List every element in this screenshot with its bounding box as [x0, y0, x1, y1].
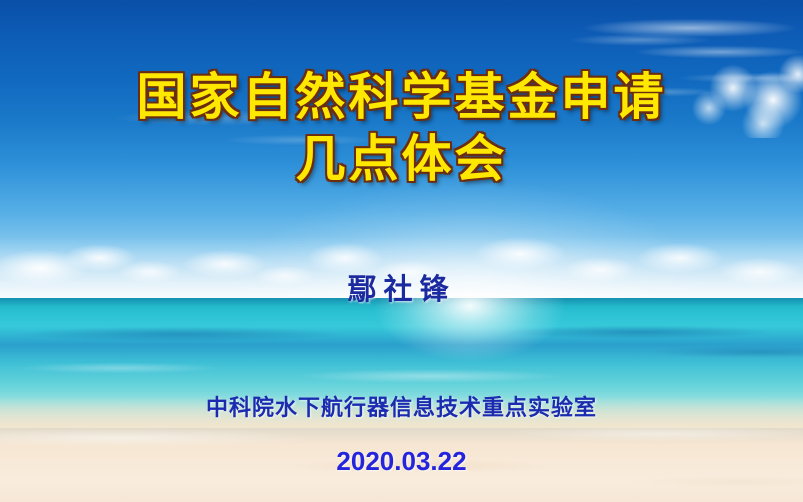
title-line-2: 几点体会: [0, 128, 803, 190]
slide-title: 国家自然科学基金申请 几点体会: [0, 66, 803, 190]
presentation-slide: 国家自然科学基金申请 几点体会 鄢社锋 中科院水下航行器信息技术重点实验室 20…: [0, 0, 803, 502]
affiliation-text: 中科院水下航行器信息技术重点实验室: [0, 390, 803, 422]
author-name: 鄢社锋: [0, 266, 803, 308]
presentation-date: 2020.03.22: [0, 446, 803, 477]
title-line-1: 国家自然科学基金申请: [0, 66, 803, 128]
